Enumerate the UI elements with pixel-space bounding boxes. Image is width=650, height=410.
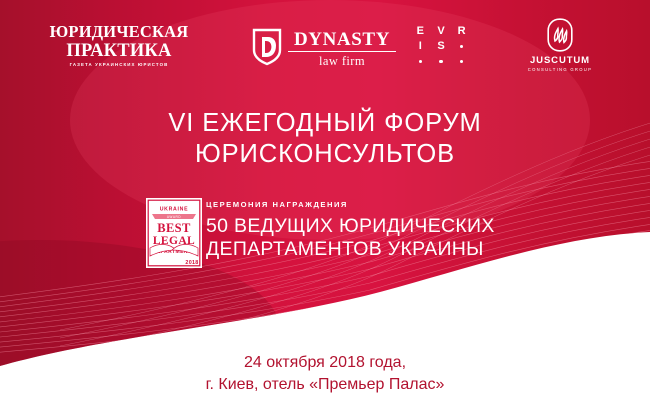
logo-dynasty-text: DYNASTY law firm [288,30,396,68]
award-kicker: ЦЕРЕМОНИЯ НАГРАЖДЕНИЯ [206,201,566,209]
evris-cell-e: E [417,26,424,37]
evris-dot-4 [460,60,463,63]
headline-line2: ЮРИСКОНСУЛЬТОВ [0,139,650,170]
logo-up-tagline: ГАЗЕТА УКРАИНСКИХ ЮРИСТОВ [48,63,190,67]
logo-dynasty-name: DYNASTY [288,30,396,52]
logo-juscutum-sub: CONSULTING GROUP [512,68,608,72]
award-title-line2: ДЕПАРТАМЕНТОВ УКРАИНЫ [206,238,566,262]
event-headline: VI ЕЖЕГОДНЫЙ ФОРУМ ЮРИСКОНСУЛЬТОВ [0,108,650,170]
logo-dynasty: DYNASTY law firm [248,26,398,72]
evris-cell-r: R [458,26,466,37]
award-block: UKRAINE AWARD BEST LEGAL DEPARTMENTS 201… [146,196,566,272]
evris-grid: E V R I S [410,24,472,69]
footer-date: 24 октября 2018 года, [0,352,650,374]
award-title-line1: 50 ВЕДУЩИХ ЮРИДИЧЕСКИХ [206,215,566,239]
svg-text:BEST: BEST [157,221,191,235]
flame-icon [547,18,573,52]
badge-graphic: UKRAINE AWARD BEST LEGAL DEPARTMENTS 201… [146,198,202,268]
sponsor-logo-strip: ЮРИДИЧЕСКАЯ ПРАКТИКА ГАЗЕТА УКРАИНСКИХ Ю… [0,14,650,80]
event-banner: ЮРИДИЧЕСКАЯ ПРАКТИКА ГАЗЕТА УКРАИНСКИХ Ю… [0,0,650,410]
award-text: ЦЕРЕМОНИЯ НАГРАЖДЕНИЯ 50 ВЕДУЩИХ ЮРИДИЧЕ… [206,196,566,262]
logo-up-line2: ПРАКТИКА [48,42,190,61]
logo-up-line1: ЮРИДИЧЕСКАЯ [48,24,190,41]
footer-venue: г. Киев, отель «Премьер Палас» [0,374,650,396]
best-legal-departments-badge: UKRAINE AWARD BEST LEGAL DEPARTMENTS 201… [146,198,202,268]
evris-cell-i: I [419,41,422,52]
logo-juscutum-name: JUSCUTUM [512,56,608,66]
evris-cell-v: V [437,26,444,37]
headline-line1: VI ЕЖЕГОДНЫЙ ФОРУМ [0,108,650,139]
svg-text:AWARD: AWARD [167,215,181,219]
svg-text:UKRAINE: UKRAINE [160,206,189,212]
shield-d-icon [252,28,282,66]
evris-dot-1 [460,45,463,48]
award-title: 50 ВЕДУЩИХ ЮРИДИЧЕСКИХ ДЕПАРТАМЕНТОВ УКР… [206,215,566,263]
logo-juscutum: JUSCUTUM CONSULTING GROUP [512,18,608,72]
event-footer: 24 октября 2018 года, г. Киев, отель «Пр… [0,352,650,395]
logo-dynasty-sub: law firm [288,55,396,68]
evris-cell-s: S [437,41,444,52]
evris-dot-3 [439,60,442,63]
logo-evris: E V R I S [410,24,472,69]
svg-text:2018: 2018 [185,260,198,266]
evris-dot-2 [419,60,422,63]
logo-yuridicheskaya-praktika: ЮРИДИЧЕСКАЯ ПРАКТИКА ГАЗЕТА УКРАИНСКИХ Ю… [48,24,190,67]
